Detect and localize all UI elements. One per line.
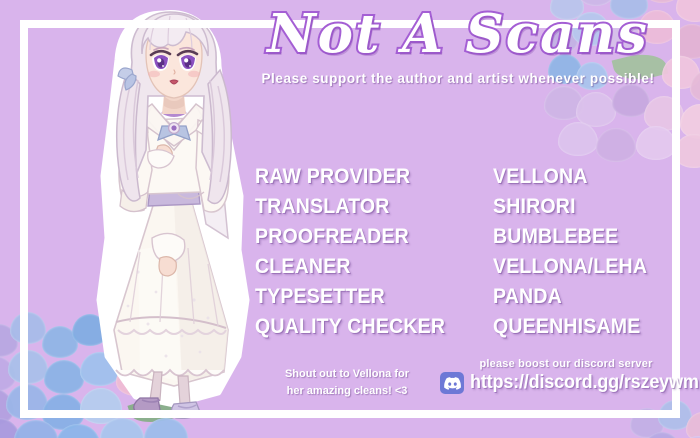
scanlation-credits-page: Not A Scans Please support the author an… (0, 0, 700, 438)
credit-role-label: TRANSLATOR (255, 195, 476, 219)
hydrangea-cluster-bottom-right (630, 398, 700, 438)
credit-name-value: BUMBLEBEE (493, 225, 662, 249)
header: Not A Scans Please support the author an… (232, 8, 684, 86)
table-row: QUALITY CHECKER QUEENHISAME (255, 315, 675, 345)
credits-list: RAW PROVIDER VELLONA TRANSLATOR SHIRORI … (255, 165, 675, 345)
credit-name-value: PANDA (493, 285, 662, 309)
credit-name-value: VELLONA/LEHA (493, 255, 662, 279)
shoutout-line-1: Shout out to Vellona for (258, 366, 436, 383)
credit-role-label: TYPESETTER (255, 285, 476, 309)
credit-name-value: VELLONA (493, 165, 662, 189)
table-row: CLEANER VELLONA/LEHA (255, 255, 675, 285)
credit-role-label: PROOFREADER (255, 225, 476, 249)
support-tagline: Please support the author and artist whe… (232, 71, 684, 86)
credit-name-value: QUEENHISAME (493, 315, 662, 339)
shoutout-line-2: her amazing cleans! <3 (258, 383, 436, 400)
discord-boost-text: please boost our discord server (456, 358, 676, 370)
discord-link-row[interactable]: https://discord.gg/rszeywm (440, 372, 676, 394)
table-row: RAW PROVIDER VELLONA (255, 165, 675, 195)
credit-name-value: SHIRORI (493, 195, 662, 219)
discord-section: please boost our discord server https://… (440, 358, 676, 394)
shoutout-note: Shout out to Vellona for her amazing cle… (258, 366, 436, 400)
table-row: TYPESETTER PANDA (255, 285, 675, 315)
credit-role-label: RAW PROVIDER (255, 165, 476, 189)
table-row: TRANSLATOR SHIRORI (255, 195, 675, 225)
table-row: PROOFREADER BUMBLEBEE (255, 225, 675, 255)
page-title: Not A Scans (232, 8, 684, 61)
discord-icon (440, 372, 464, 394)
discord-invite-url[interactable]: https://discord.gg/rszeywm (470, 372, 699, 394)
credit-role-label: CLEANER (255, 255, 476, 279)
character-illustration (78, 0, 256, 424)
credit-role-label: QUALITY CHECKER (255, 315, 476, 339)
